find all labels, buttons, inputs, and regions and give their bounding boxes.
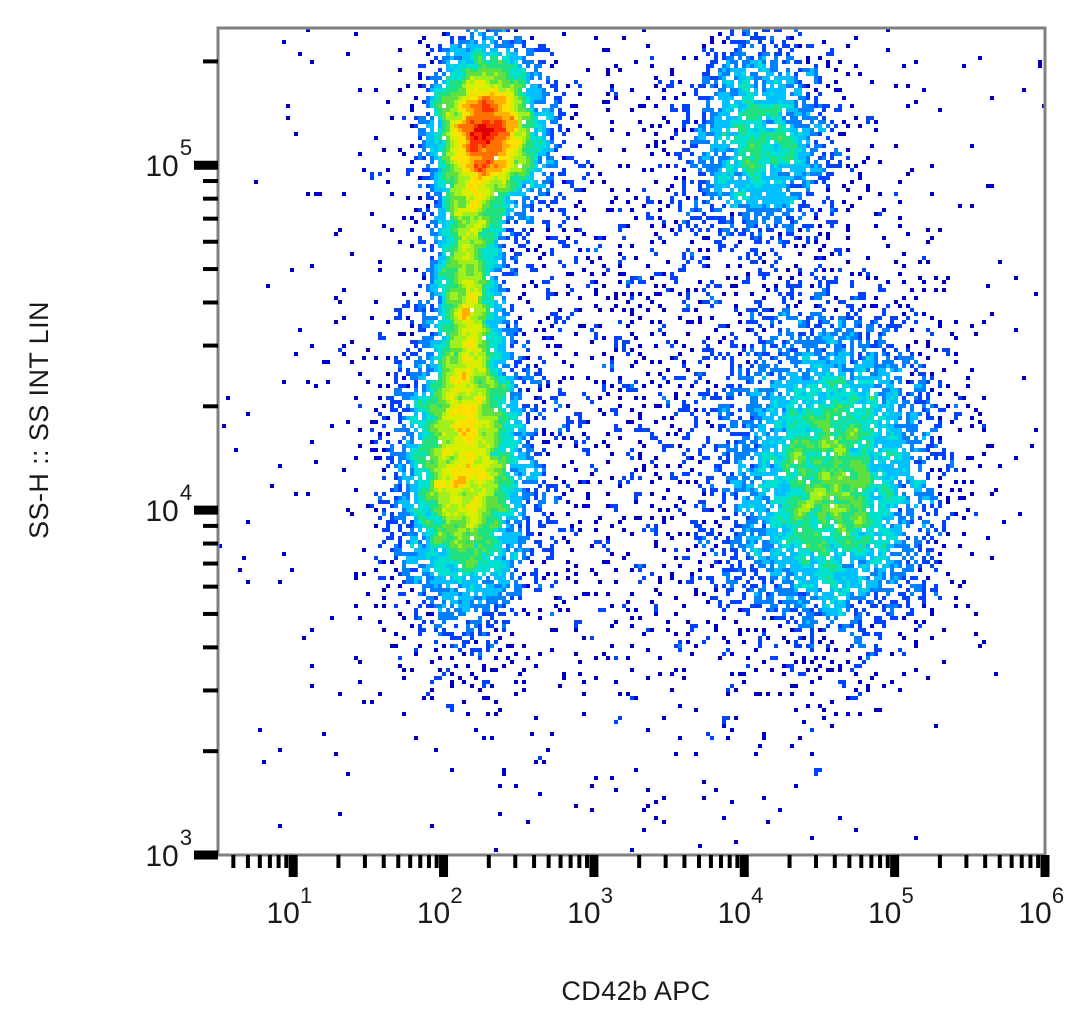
x-tick-label-exponent: 2 [450,883,462,908]
x-tick-label-base: 10 [868,897,901,930]
y-tick-label-base: 10 [145,150,178,183]
x-tick-label-exponent: 4 [751,883,763,908]
y-axis-title: SS-H :: SS INT LIN [24,301,54,539]
x-tick-label-exponent: 3 [601,883,613,908]
x-tick-label-base: 10 [718,897,751,930]
y-tick-label-exponent: 5 [180,135,192,160]
x-tick-label-base: 10 [266,897,299,930]
flow-cytometry-plot: 101102103104105106 103104105 CD42b APC S… [0,0,1080,1035]
scatter-plot-canvas: 101102103104105106 103104105 CD42b APC S… [0,0,1080,1035]
y-tick-label-exponent: 3 [180,825,192,850]
y-tick-label-exponent: 4 [180,480,192,505]
x-tick-label-base: 10 [417,897,450,930]
x-tick-label-base: 10 [1018,897,1051,930]
x-axis-title: CD42b APC [561,976,710,1006]
x-tick-label-exponent: 5 [902,883,914,908]
x-tick-label-exponent: 1 [300,883,312,908]
y-tick-label-base: 10 [145,840,178,873]
x-tick-label-exponent: 6 [1052,883,1064,908]
x-tick-label-base: 10 [567,897,600,930]
y-tick-label-base: 10 [145,495,178,528]
